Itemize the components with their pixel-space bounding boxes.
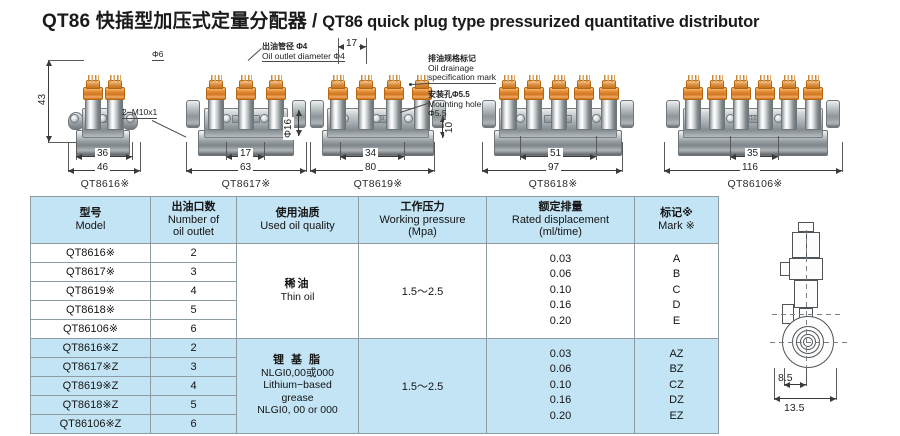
- dimension-13p5: 13.5: [784, 402, 804, 414]
- annotation-dia6: Φ6: [152, 50, 164, 61]
- port-stem: [601, 96, 617, 130]
- port-crown: [528, 75, 540, 82]
- ext-line: [338, 38, 339, 64]
- col-header-pressure-unit: (Mpa): [361, 226, 484, 239]
- port-crown: [807, 75, 819, 82]
- page-title: QT86 快插型加压式定量分配器 / QT86 quick plug type …: [42, 6, 882, 34]
- port-crown: [109, 75, 121, 82]
- cell-oil-quality: 锂 基 脂 NLGI0,00或000 Lithium−based grease …: [237, 338, 359, 433]
- port-stem: [85, 96, 101, 130]
- product-drawings-panel: 43 8616: [0, 38, 900, 190]
- port-stem: [781, 96, 797, 130]
- cell-oil-quality-en: Thin oil: [237, 291, 358, 304]
- ext-line: [140, 142, 141, 172]
- ext-line: [132, 142, 133, 160]
- annotation-thread-text: 2−M10x1: [122, 108, 157, 119]
- figure-qt8617: 8617 17 63 QT8617※: [178, 38, 314, 190]
- dimension-height-43: 43: [37, 92, 48, 107]
- cell-oil-quality-en3: grease: [237, 392, 358, 405]
- table-body: QT8616※ 2 稀油 Thin oil 1.5～2.5 0.03 0.06 …: [31, 243, 719, 433]
- col-header-pressure: 工作压力 Working pressure (Mpa): [359, 197, 487, 244]
- port-stem: [208, 96, 224, 130]
- ext-line: [596, 136, 597, 160]
- cell-displacement: 0.03 0.06 0.10 0.16 0.20: [487, 243, 635, 338]
- manifold-body-qt8619: 8619: [322, 78, 434, 156]
- cell-model: QT8617※Z: [31, 357, 151, 376]
- cell-model: QT8616※: [31, 243, 151, 262]
- dimension-46: 46: [95, 162, 110, 173]
- table-row[interactable]: QT8616※ 2 稀油 Thin oil 1.5～2.5 0.03 0.06 …: [31, 243, 719, 262]
- port-stem: [733, 96, 749, 130]
- col-header-outlets-en1: Number of: [153, 214, 234, 227]
- port-crown: [270, 75, 282, 82]
- port-crown: [783, 75, 795, 82]
- sv-centerline-horizontal-upper: [772, 314, 844, 315]
- col-header-displacement-cn: 额定排量: [489, 201, 632, 214]
- port-stem: [576, 96, 592, 130]
- mounting-hole: [592, 114, 601, 123]
- manifold-body-qt8617: 8617: [198, 78, 294, 156]
- dimension-13p5-line: [774, 398, 836, 399]
- annotation-mounting-hole: 安装孔Φ5.5 Mounting hole Φ5.5: [428, 90, 481, 119]
- title-english: QT86 quick plug type pressurized quantit…: [322, 13, 759, 32]
- port-stem: [268, 96, 284, 130]
- port-stem: [330, 96, 346, 130]
- cell-model: QT8619※: [31, 281, 151, 300]
- col-header-oil-quality-cn: 使用油质: [239, 207, 356, 220]
- cell-oil-quality-en: NLGI0,00或000: [237, 367, 358, 380]
- cell-mark: A B C D E: [635, 243, 719, 338]
- port-crown: [416, 75, 428, 82]
- figure-caption-qt86106: QT86106※: [680, 178, 830, 190]
- col-header-mark-cn: 标记※: [637, 207, 716, 220]
- dimension-63: 63: [238, 162, 253, 173]
- mounting-hole: [404, 114, 413, 123]
- port-stem: [709, 96, 725, 130]
- figure-caption-qt8618: QT8618※: [488, 178, 618, 190]
- port-crown: [332, 75, 344, 82]
- end-port-left: [186, 100, 200, 128]
- dimension-80: 80: [363, 162, 378, 173]
- annotation-dia16: Φ16: [283, 117, 294, 140]
- col-header-pressure-en: Working pressure: [361, 214, 484, 227]
- col-header-displacement-unit: (ml/time): [489, 226, 632, 239]
- cell-outlets: 5: [151, 300, 237, 319]
- port-stem: [358, 96, 374, 130]
- dimension-36: 36: [95, 148, 110, 159]
- port-crown: [578, 75, 590, 82]
- ext-line: [842, 142, 843, 172]
- manifold-body-qt8618: 8618: [494, 78, 622, 156]
- col-header-model-en: Model: [33, 220, 148, 233]
- cell-outlets: 3: [151, 357, 237, 376]
- sv-centerline-vertical: [806, 230, 807, 370]
- cell-model: QT8616※Z: [31, 338, 151, 357]
- port-stem: [238, 96, 254, 130]
- col-header-outlets-en2: oil outlet: [153, 226, 234, 239]
- sv-centerline-horizontal-lower: [770, 342, 848, 343]
- ext-line: [404, 142, 405, 160]
- port-crown: [87, 75, 99, 82]
- port-stem: [107, 96, 123, 130]
- cell-model: QT8618※Z: [31, 395, 151, 414]
- cell-pressure: 1.5～2.5: [359, 338, 487, 433]
- ext-line: [306, 142, 307, 172]
- cell-oil-quality-cn: 锂 基 脂: [237, 354, 358, 367]
- dimension-dia16-line: [298, 110, 299, 136]
- dimension-8p5-line: [784, 384, 806, 385]
- figure-caption-qt8617: QT8617※: [186, 178, 306, 190]
- ext-line: [434, 142, 435, 172]
- port-crown: [210, 75, 222, 82]
- port-crown: [603, 75, 615, 82]
- manifold-plate: [683, 108, 823, 138]
- cell-displacement: 0.03 0.06 0.10 0.16 0.20: [487, 338, 635, 433]
- port-crown: [503, 75, 515, 82]
- figure-qt8618: 8618 51 97 QT8618※: [478, 38, 636, 190]
- port-crown: [711, 75, 723, 82]
- mounting-hole: [516, 114, 525, 123]
- ext-line: [366, 38, 367, 64]
- figure-caption-qt8616: QT8616※: [50, 178, 160, 190]
- port-crown: [687, 75, 699, 82]
- title-chinese: QT86 快插型加压式定量分配器: [42, 6, 307, 33]
- port-crown: [735, 75, 747, 82]
- cell-oil-quality-en4: NLGI0, 00 or 000: [237, 404, 358, 417]
- annotation-thread: 2−M10x1: [122, 108, 157, 119]
- ext-line: [48, 60, 84, 61]
- dimension-17: 17: [238, 148, 253, 159]
- col-header-displacement: 额定排量 Rated displacement (ml/time): [487, 197, 635, 244]
- cell-oil-quality-en2: Lithium−based: [237, 379, 358, 392]
- figure-caption-qt8619: QT8619※: [313, 178, 443, 190]
- cell-outlets: 6: [151, 319, 237, 338]
- end-port-left: [482, 100, 496, 128]
- col-header-outlets-cn: 出油口数: [153, 201, 234, 214]
- port-crown: [388, 75, 400, 82]
- manifold-body-qt86106: 86106: [678, 78, 828, 156]
- dimension-97: 97: [546, 162, 561, 173]
- dimension-51: 51: [548, 148, 563, 159]
- cell-outlets: 4: [151, 376, 237, 395]
- cell-model: QT8617※: [31, 262, 151, 281]
- sv-side-tab: [780, 262, 790, 276]
- col-header-model-cn: 型号: [33, 207, 148, 220]
- figure-qt86106: 86106 35: [660, 38, 846, 190]
- dimension-top-17: 17: [344, 38, 359, 49]
- dimension-35: 35: [745, 148, 760, 159]
- cell-outlets: 5: [151, 395, 237, 414]
- cell-model: QT86106※: [31, 319, 151, 338]
- dimension-10-line: [442, 116, 443, 138]
- cell-oil-quality: 稀油 Thin oil: [237, 243, 359, 338]
- title-separator: /: [312, 11, 317, 33]
- dimension-34: 34: [363, 148, 378, 159]
- specification-table: 型号 Model 出油口数 Number of oil outlet 使用油质 …: [30, 196, 719, 434]
- cell-outlets: 3: [151, 262, 237, 281]
- cell-pressure: 1.5～2.5: [359, 243, 487, 338]
- port-stem: [501, 96, 517, 130]
- leader-dot-drain-mark: [409, 83, 412, 86]
- col-header-displacement-en: Rated displacement: [489, 214, 632, 227]
- col-header-mark: 标记※ Mark ※: [635, 197, 719, 244]
- ext-line: [836, 368, 837, 400]
- cell-oil-quality-cn: 稀油: [237, 278, 358, 291]
- end-port-left: [310, 100, 324, 128]
- mounting-hole: [70, 114, 79, 123]
- dimension-height-43-line: [48, 60, 49, 142]
- dimension-116: 116: [740, 162, 760, 173]
- figure-qt8619: 17 8619 34: [308, 38, 448, 190]
- annotation-mounting-hole-en2: Φ5.5: [428, 109, 481, 119]
- col-header-oil-quality: 使用油质 Used oil quality: [237, 197, 359, 244]
- cell-model: QT86106※Z: [31, 414, 151, 433]
- port-stem: [757, 96, 773, 130]
- ext-line: [806, 368, 807, 386]
- col-header-mark-en: Mark ※: [637, 220, 716, 233]
- port-stem: [551, 96, 567, 130]
- cell-outlets: 6: [151, 414, 237, 433]
- cell-mark: AZ BZ CZ DZ EZ: [635, 338, 719, 433]
- cell-outlets: 4: [151, 281, 237, 300]
- port-stem: [526, 96, 542, 130]
- port-crown: [759, 75, 771, 82]
- col-header-oil-quality-en: Used oil quality: [239, 220, 356, 233]
- port-crown: [553, 75, 565, 82]
- end-port-right: [620, 100, 634, 128]
- table-row[interactable]: QT8616※Z 2 锂 基 脂 NLGI0,00或000 Lithium−ba…: [31, 338, 719, 357]
- port-crown: [240, 75, 252, 82]
- dimension-8p5: 8.5: [778, 372, 793, 384]
- port-stem: [805, 96, 821, 130]
- table-header-row: 型号 Model 出油口数 Number of oil outlet 使用油质 …: [31, 197, 719, 244]
- ext-line: [264, 142, 265, 160]
- ext-line: [778, 136, 779, 160]
- annotation-dia6-text: Φ6: [152, 50, 164, 61]
- col-header-outlets: 出油口数 Number of oil outlet: [151, 197, 237, 244]
- ext-line: [622, 142, 623, 172]
- end-port-left: [666, 100, 680, 128]
- section-view-drawing: 8.5 13.5: [736, 228, 886, 428]
- port-crown: [360, 75, 372, 82]
- col-header-model: 型号 Model: [31, 197, 151, 244]
- cell-model: QT8618※: [31, 300, 151, 319]
- cell-outlets: 2: [151, 243, 237, 262]
- col-header-pressure-cn: 工作压力: [361, 201, 484, 214]
- port-stem: [685, 96, 701, 130]
- cell-outlets: 2: [151, 338, 237, 357]
- end-port-right: [826, 100, 840, 128]
- cell-model: QT8619※Z: [31, 376, 151, 395]
- dimension-10: 10: [444, 120, 455, 135]
